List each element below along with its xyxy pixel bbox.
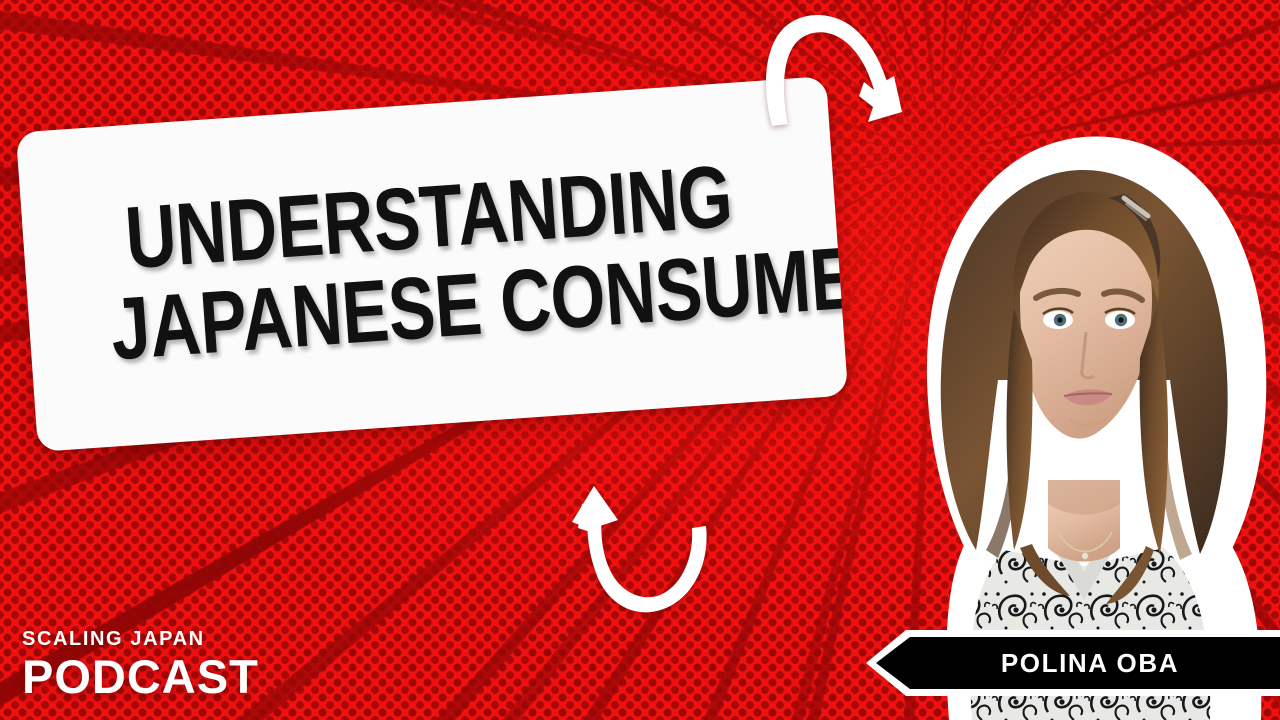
logo-main-line: PODCAST bbox=[22, 653, 259, 700]
curved-arrow-up-left-icon bbox=[558, 478, 718, 618]
title-card: UNDERSTANDING JAPANESE CONSUMERS bbox=[16, 76, 848, 452]
guest-photo-cutout bbox=[808, 80, 1280, 720]
thumbnail-canvas: UNDERSTANDING JAPANESE CONSUMERS bbox=[0, 0, 1280, 720]
guest-neck bbox=[1048, 480, 1120, 562]
guest-name-banner: POLINA OBA bbox=[862, 628, 1280, 698]
show-logo: SCALING JAPAN PODCAST bbox=[22, 629, 259, 700]
title-text-block: UNDERSTANDING JAPANESE CONSUMERS bbox=[21, 147, 843, 376]
logo-top-line: SCALING JAPAN bbox=[22, 629, 259, 649]
